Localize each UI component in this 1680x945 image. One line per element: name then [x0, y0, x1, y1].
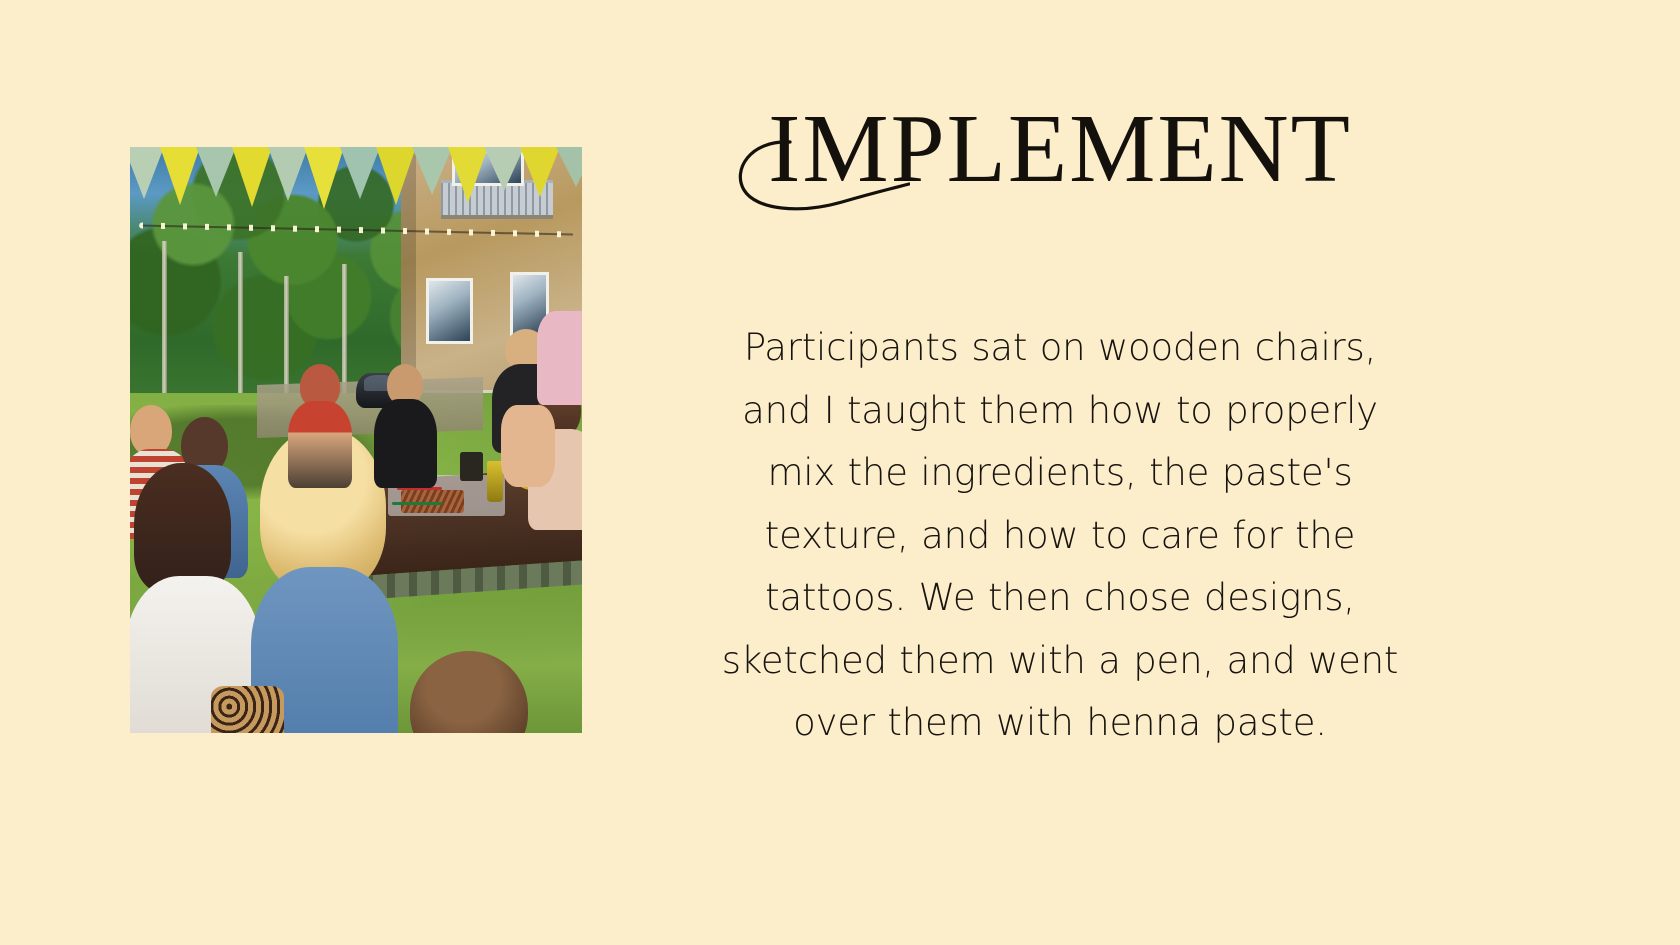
bunting-flag [304, 147, 344, 209]
instructor-body [288, 401, 352, 488]
bunting-flag [484, 147, 524, 191]
title-swash-group: IMPLEMENT [768, 100, 1352, 197]
tree-trunk [162, 241, 167, 417]
workshop-photo [130, 147, 582, 733]
bunting-flag [268, 147, 308, 201]
participant-head [134, 463, 232, 592]
building-window [426, 278, 473, 344]
bunting-flag [412, 147, 452, 195]
bunting-flag [556, 147, 582, 187]
bunting-flag [376, 147, 416, 205]
slide-root: IMPLEMENT Participants sat on wooden cha… [0, 0, 1680, 945]
title-text: IMPLEMENT [768, 95, 1352, 202]
bunting-flag [232, 147, 272, 207]
body-paragraph: Participants sat on wooden chairs, and I… [710, 317, 1410, 755]
bag-shape [211, 686, 283, 733]
leopard-bag [211, 686, 283, 733]
bunting-flag [160, 147, 200, 205]
tree-trunk [238, 252, 243, 416]
bunting-flag [340, 147, 380, 199]
participant-back-head [410, 651, 528, 733]
page-title: IMPLEMENT [660, 100, 1460, 197]
participant [374, 364, 437, 481]
bunting-flags [130, 147, 582, 247]
dark-jar [460, 452, 483, 481]
participant [501, 405, 555, 487]
text-column: IMPLEMENT Participants sat on wooden cha… [660, 100, 1460, 755]
participant-body [374, 399, 437, 488]
participant-head [410, 651, 528, 733]
participant [537, 311, 582, 405]
bunting-flag [196, 147, 236, 197]
participant-body [537, 311, 582, 405]
bunting-flag [520, 147, 560, 197]
bunting-flag [448, 147, 488, 203]
instructor [284, 364, 356, 481]
participant-arm [501, 405, 555, 487]
bunting-flag [130, 147, 164, 199]
photo-canvas [130, 147, 582, 733]
